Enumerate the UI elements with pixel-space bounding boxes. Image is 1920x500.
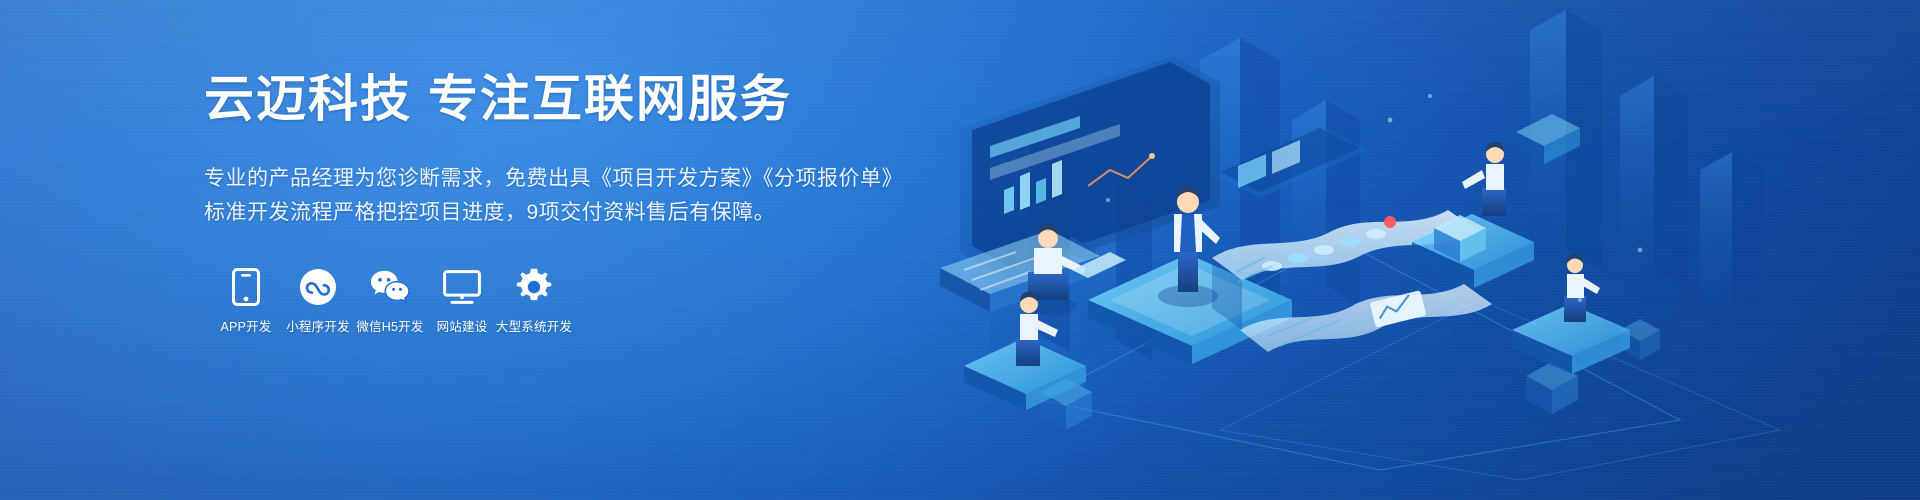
isometric-tech-team-illustration: [920, 0, 1920, 500]
subtitle-line-1: 专业的产品经理为您诊断需求，免费出具《项目开发方案》《分项报价单》: [204, 163, 904, 195]
subtitle-line-2: 标准开发流程严格把控项目进度，9项交付资料售后有保障。: [204, 197, 904, 229]
banner-content: 云迈科技 专注互联网服务 专业的产品经理为您诊断需求，免费出具《项目开发方案》《…: [204, 72, 904, 334]
wechat-chat-icon: [370, 267, 410, 307]
smartphone-icon: [226, 267, 266, 307]
service-label-wechat-h5: 微信H5开发: [356, 320, 423, 334]
person-pedestal-right: [1512, 254, 1630, 374]
service-item-app[interactable]: APP开发: [210, 267, 282, 334]
hero-banner: 云迈科技 专注互联网服务 专业的产品经理为您诊断需求，免费出具《项目开发方案》《…: [0, 0, 1920, 500]
service-item-website[interactable]: 网站建设: [426, 267, 498, 334]
illustration-container: [920, 0, 1920, 500]
wechat-miniprogram-icon: [298, 267, 338, 307]
service-item-miniprogram[interactable]: 小程序开发: [282, 267, 354, 334]
service-item-wechat-h5[interactable]: 微信H5开发: [354, 267, 426, 334]
page-title: 云迈科技 专注互联网服务: [204, 72, 904, 127]
service-label-miniprogram: 小程序开发: [286, 320, 350, 334]
desktop-monitor-icon: [442, 267, 482, 307]
service-list: APP开发 小程序开发: [210, 267, 904, 334]
service-label-website: 网站建设: [437, 320, 488, 334]
service-label-large-system: 大型系统开发: [496, 320, 572, 334]
service-label-app: APP开发: [220, 320, 271, 334]
person-stair-platform: [1412, 142, 1534, 288]
service-item-large-system[interactable]: 大型系统开发: [498, 267, 570, 334]
gear-icon: [514, 267, 554, 307]
